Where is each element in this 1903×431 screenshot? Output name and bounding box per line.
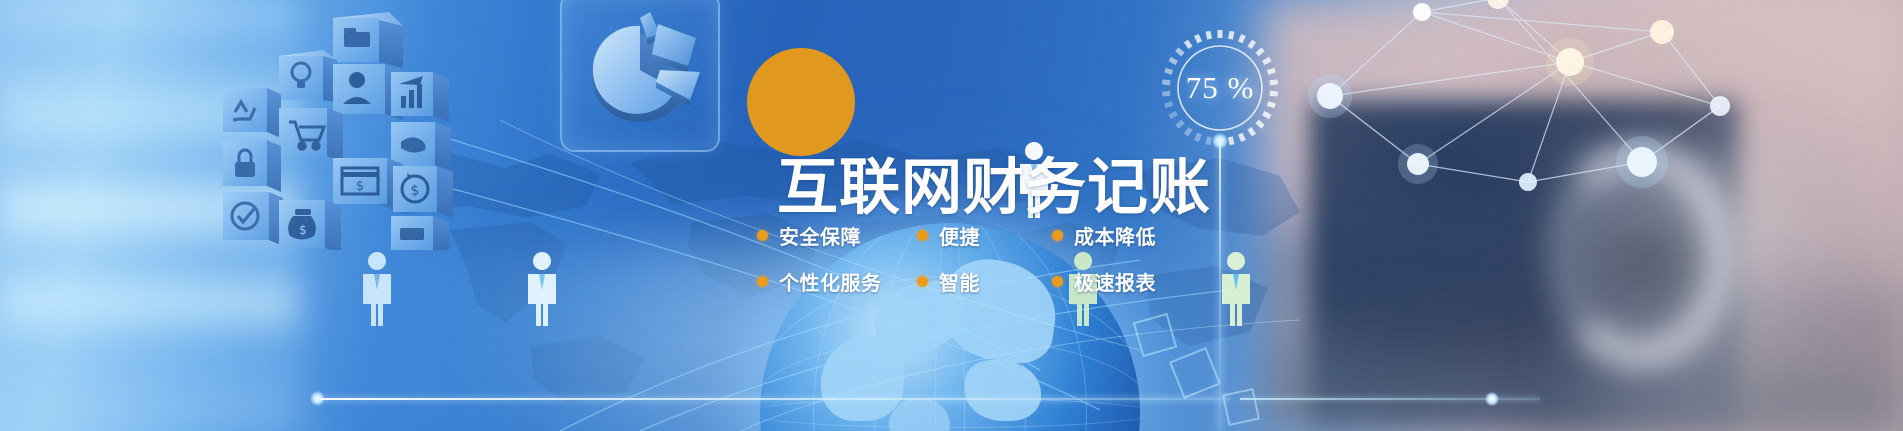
feature-label: 成本降低 xyxy=(1074,221,1156,250)
progress-value: 75 % xyxy=(1160,28,1280,148)
feature-label: 个性化服务 xyxy=(779,267,882,296)
bullet-dot-icon xyxy=(1052,230,1063,241)
feature-label: 便捷 xyxy=(939,221,980,250)
business-person-pictogram xyxy=(355,250,399,328)
floating-square-outlines xyxy=(1130,300,1310,431)
marketing-banner: $ $ xyxy=(0,0,1903,431)
baseline-node-dot-right xyxy=(1485,392,1499,406)
bullet-dot-icon xyxy=(917,230,928,241)
svg-text:$: $ xyxy=(356,179,364,194)
pie-chart-panel xyxy=(560,0,720,152)
feature-item: 极速报表 xyxy=(1052,267,1156,296)
page-title: 互联网财务记账 xyxy=(777,157,1211,218)
pie-chart-icon xyxy=(568,0,716,148)
feature-item: 便捷 xyxy=(917,221,1052,250)
feature-list: 安全保障 便捷 成本降低 个性化服务 智能 极速报表 xyxy=(757,212,1227,304)
bullet-dot-icon xyxy=(757,276,768,287)
progress-ring-badge: 75 % xyxy=(1160,28,1280,148)
wallet-icon xyxy=(400,228,424,240)
feature-label: 智能 xyxy=(939,267,980,296)
node-network-graph xyxy=(1270,0,1730,216)
orange-accent-disc xyxy=(747,48,855,156)
app-icon-cube: $ $ xyxy=(205,10,475,250)
feature-item: 个性化服务 xyxy=(757,267,917,296)
feature-label: 极速报表 xyxy=(1074,267,1156,296)
svg-text:$: $ xyxy=(411,183,420,199)
baseline-line xyxy=(320,398,1230,400)
bullet-dot-icon xyxy=(917,276,928,287)
bullet-dot-icon xyxy=(1052,276,1063,287)
feature-row: 个性化服务 智能 极速报表 xyxy=(757,258,1227,304)
feature-label: 安全保障 xyxy=(779,221,861,250)
business-person-pictogram xyxy=(520,250,564,328)
feature-row: 安全保障 便捷 成本降低 xyxy=(757,212,1227,258)
feature-item: 智能 xyxy=(917,267,1052,296)
feature-item: 安全保障 xyxy=(757,221,917,250)
svg-text:$: $ xyxy=(299,223,307,237)
feature-item: 成本降低 xyxy=(1052,221,1156,250)
bullet-dot-icon xyxy=(757,230,768,241)
